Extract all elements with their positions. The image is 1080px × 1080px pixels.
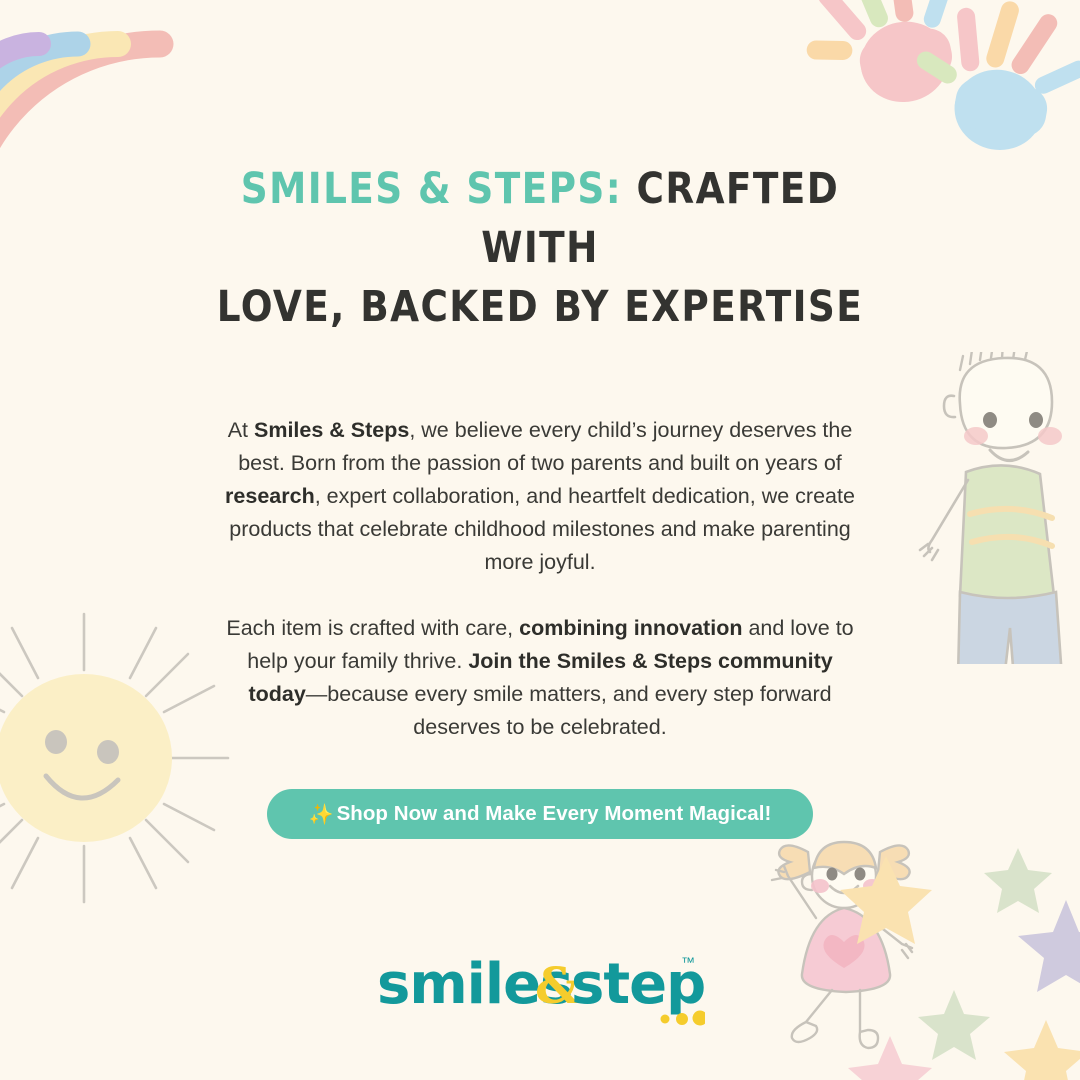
- sparkles-icon: ✨: [309, 805, 334, 825]
- logo-dot-2: [676, 1013, 688, 1025]
- logo-trademark: ™: [681, 954, 695, 970]
- shop-now-button-label: Shop Now and Make Every Moment Magical!: [337, 802, 772, 826]
- page-title: Smiles & Steps: Crafted with Love, Backe…: [209, 160, 870, 337]
- paragraph-one: At Smiles & Steps, we believe every chil…: [220, 414, 860, 579]
- brand-logo[interactable]: smiles & steps ™: [375, 945, 705, 1029]
- headline-accent: Smiles & Steps:: [241, 164, 622, 214]
- p1-segment-1: At: [228, 418, 254, 442]
- p2-segment-1: Each item is crafted with care,: [226, 616, 519, 640]
- logo-dot-1: [661, 1015, 670, 1024]
- p2-segment-3: —because every smile matters, and every …: [306, 682, 832, 739]
- promo-card: Smiles & Steps: Crafted with Love, Backe…: [0, 0, 1080, 1080]
- headline-line2: Love, Backed by Expertise: [217, 282, 863, 332]
- body-copy: At Smiles & Steps, we believe every chil…: [220, 414, 860, 744]
- p1-bold-brand: Smiles & Steps: [254, 418, 409, 442]
- p1-bold-research: research: [225, 484, 315, 508]
- shop-now-button[interactable]: ✨Shop Now and Make Every Moment Magical!: [267, 789, 813, 839]
- brand-logo-mark: smiles & steps ™: [375, 945, 705, 1029]
- p2-bold-innovation: combining innovation: [519, 616, 742, 640]
- p1-segment-3: , expert collaboration, and heartfelt de…: [229, 484, 855, 574]
- paragraph-two: Each item is crafted with care, combinin…: [220, 612, 860, 744]
